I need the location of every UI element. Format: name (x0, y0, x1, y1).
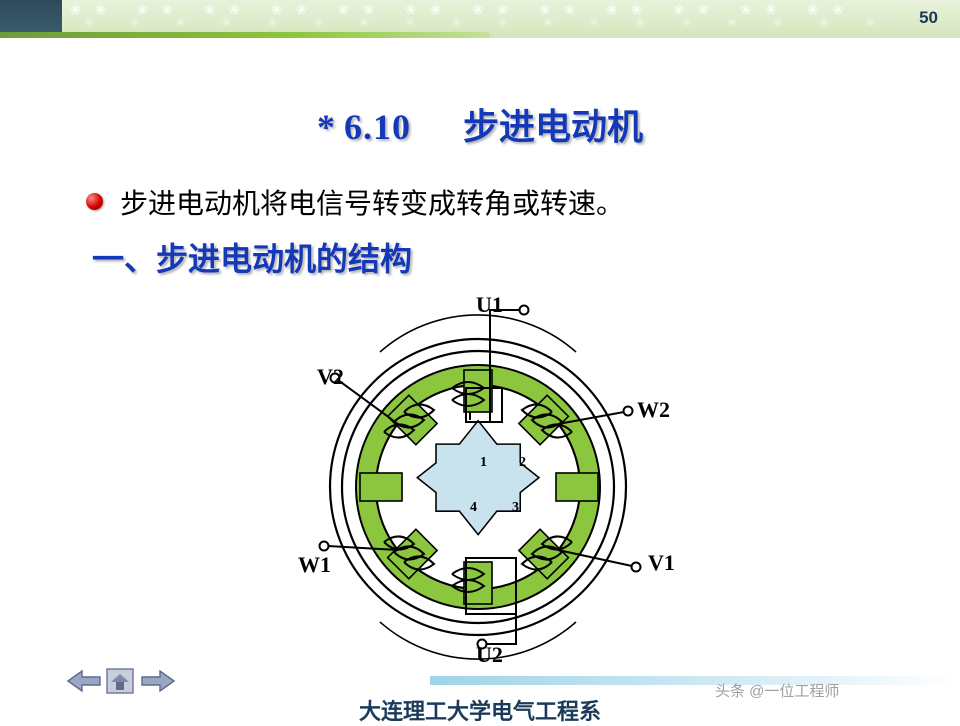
nav-forward-arrow[interactable] (142, 671, 174, 691)
page-title: * 6.10 步进电动机 (0, 98, 960, 150)
bullet-line: 步进电动机将电信号转变成转角或转速。 (86, 182, 946, 222)
terminal-dot-w1 (320, 542, 329, 551)
terminal-label-w2: W2 (637, 397, 670, 423)
slide-banner: ❀❀ ❀❀ ❀❀ ❀❀ ❀❀ ❀❀ ❀❀ ❀❀ ❀❀ ❀❀ ❀❀ ❀❀ ❀ ❀ … (0, 0, 960, 44)
nav-home-button[interactable] (107, 669, 133, 693)
bullet-dot-icon (86, 193, 103, 210)
watermark-text: 头条 @一位工程师 (715, 680, 839, 701)
stator-pole-right (556, 473, 598, 501)
terminal-dot-w2 (624, 407, 633, 416)
motor-svg (280, 292, 700, 682)
stepper-motor-cross-section: U1 V2 W2 W1 V1 U2 1 2 4 3 (280, 292, 700, 682)
stator-pole-left (360, 473, 402, 501)
terminal-label-w1: W1 (298, 552, 331, 578)
title-marker: * (317, 107, 335, 147)
rotor-tooth-2: 2 (519, 455, 526, 471)
section-subheading: 一、步进电动机的结构 (92, 234, 412, 280)
terminal-dot-u1 (520, 306, 529, 315)
nav-back-arrow[interactable] (68, 671, 100, 691)
terminal-label-u1: U1 (476, 292, 503, 318)
page-number: 50 (919, 8, 938, 28)
terminal-dot-v1 (632, 563, 641, 572)
terminal-label-u2: U2 (476, 642, 503, 668)
footer-accent-bar (430, 676, 960, 685)
banner-white-stripe (0, 38, 960, 44)
bullet-text: 步进电动机将电信号转变成转角或转速。 (120, 182, 624, 222)
rotor-tooth-1: 1 (480, 455, 487, 471)
title-number: 6.10 (344, 107, 411, 147)
terminal-label-v2: V2 (317, 364, 344, 390)
rotor-tooth-3: 3 (512, 500, 519, 516)
rotor-tooth-4: 4 (470, 500, 477, 516)
slide-navigation[interactable] (66, 664, 176, 698)
terminal-label-v1: V1 (648, 550, 675, 576)
title-text: 步进电动机 (463, 107, 643, 147)
